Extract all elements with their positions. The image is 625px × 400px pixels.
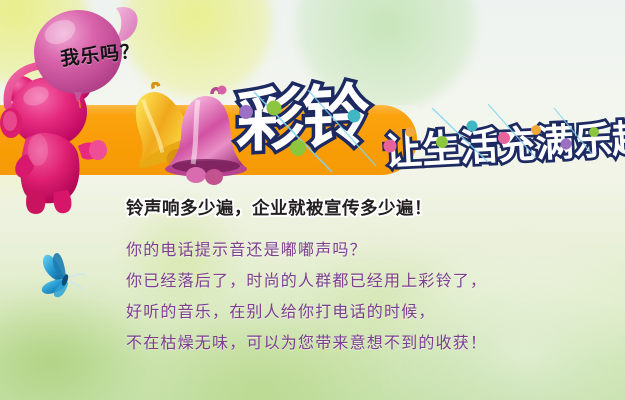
body-line: 你的电话提示音还是嘟嘟声吗？ xyxy=(126,234,596,265)
title-group: 彩铃 让生活充满乐趣 xyxy=(236,86,625,180)
body-copy: 你的电话提示音还是嘟嘟声吗？ 你已经落后了，时尚的人群都已经用上彩铃了， 好听的… xyxy=(126,234,596,358)
body-line: 好听的音乐，在别人给你打电话的时候， xyxy=(126,296,596,327)
promo-banner: 我乐吗？ xyxy=(0,0,625,400)
headline-text: 铃声响多少遍，企业就被宣传多少遍！ xyxy=(126,195,432,220)
page-subtitle: 让生活充满乐趣 xyxy=(383,119,625,171)
butterfly-icon xyxy=(34,247,98,305)
page-title: 彩铃 xyxy=(236,82,368,157)
body-line: 你已经落后了，时尚的人群都已经用上彩铃了， xyxy=(126,265,596,296)
body-line: 不在枯燥无味，可以为您带来意想不到的收获！ xyxy=(126,327,596,358)
